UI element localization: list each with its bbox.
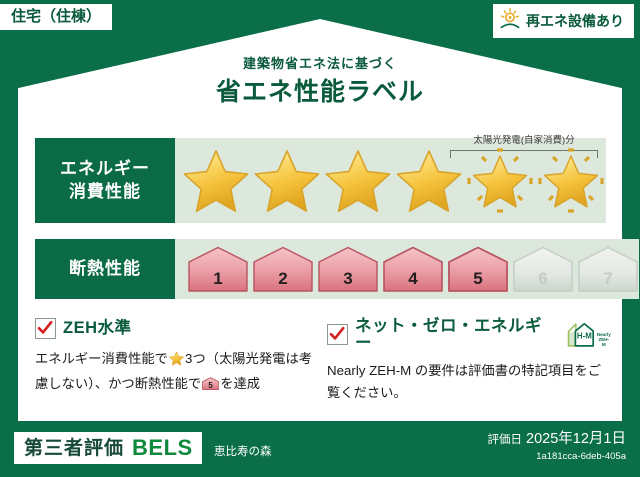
energy-performance-row: エネルギー 消費性能 太陽光発電(自家消費)分 <box>35 138 605 223</box>
star-icon <box>181 146 251 216</box>
nze-description: Nearly ZEH-M の要件は評価書の特記項目をご覧ください。 <box>327 360 611 403</box>
dwelling-type-label: 住宅（住棟） <box>11 8 101 25</box>
energy-performance-row-label: エネルギー 消費性能 <box>35 138 175 223</box>
zeh-m-caption-line2: ZEH-M <box>597 338 611 348</box>
insulation-grade-5: 5 <box>447 246 509 292</box>
star-icon <box>169 351 184 373</box>
sun-icon <box>499 8 521 34</box>
insulation-grade-3-value: 3 <box>317 270 379 287</box>
zeh-description-part2: 3つ（太陽光発電 <box>185 351 285 366</box>
zeh-description-part4: を達成 <box>220 376 260 391</box>
criteria-nze-header: ネット・ゼロ・エネルギー H-M Nearly ZEH-M <box>327 318 611 351</box>
footer-evaluation-info: 評価日 2025年12月1日 1a181cca-6deb-405a <box>488 431 626 464</box>
dwelling-type-badge: 住宅（住棟） <box>0 4 112 30</box>
insulation-performance-row: 断熱性能 1 2 3 4 <box>35 239 605 299</box>
star-solar-icon <box>465 146 535 216</box>
label-footer: 第三者評価 BELS 恵比寿の森 評価日 2025年12月1日 1a181cca… <box>0 421 640 477</box>
insulation-performance-row-body: 1 2 3 4 5 <box>175 239 639 299</box>
insulation-grade-6-value: 6 <box>512 270 574 287</box>
bels-mark: BELS <box>132 437 193 459</box>
energy-label-line2: 消費性能 <box>69 181 141 204</box>
svg-text:H-M: H-M <box>577 331 592 340</box>
zeh-description: エネルギー消費性能で3つ（太陽光発電は考慮しない）、かつ断熱性能で5を達成 <box>35 348 319 397</box>
insulation-grade-1-value: 1 <box>187 270 249 287</box>
star-solar-icon <box>536 146 606 216</box>
building-name: 恵比寿の森 <box>214 447 272 459</box>
label-header: 建築物省エネ法に基づく 省エネ性能ラベル <box>0 56 640 106</box>
star-icon <box>252 146 322 216</box>
evaluation-code: 1a181cca-6deb-405a <box>488 451 626 463</box>
zeh-m-logo-caption: Nearly ZEH-M <box>597 333 611 347</box>
criteria-zeh-header: ZEH水準 <box>35 318 319 339</box>
insulation-grade-4-value: 4 <box>382 270 444 287</box>
insulation-grade-scale: 1 2 3 4 5 <box>187 246 639 292</box>
zeh-title: ZEH水準 <box>63 320 132 337</box>
energy-performance-label: 住宅（住棟） 再エネ設備あり 建築物省エネ法に基づく 省エネ性能ラベル <box>0 0 640 477</box>
criteria-nze: ネット・ゼロ・エネルギー H-M Nearly ZEH-M Nearly ZEH… <box>327 318 611 403</box>
zeh-m-logo: H-M Nearly ZEH-M <box>566 322 611 348</box>
renewable-equipment-badge: 再エネ設備あり <box>493 4 634 38</box>
insulation-grade-1: 1 <box>187 246 249 292</box>
energy-performance-row-body: 太陽光発電(自家消費)分 <box>175 138 606 223</box>
header-title: 省エネ性能ラベル <box>0 78 640 107</box>
nze-title: ネット・ゼロ・エネルギー <box>355 318 555 351</box>
criteria-zeh: ZEH水準 エネルギー消費性能で3つ（太陽光発電は考慮しない）、かつ断熱性能で5… <box>35 318 319 403</box>
star-icon <box>394 146 464 216</box>
insulation-grade-7-value: 7 <box>577 270 639 287</box>
criteria-section: ZEH水準 エネルギー消費性能で3つ（太陽光発電は考慮しない）、かつ断熱性能で5… <box>35 318 611 403</box>
insulation-grade-6: 6 <box>512 246 574 292</box>
nze-checkbox[interactable] <box>327 324 348 345</box>
evaluation-date-value: 2025年12月1日 <box>526 431 626 447</box>
header-subtitle: 建築物省エネ法に基づく <box>0 56 640 72</box>
svg-text:5: 5 <box>208 381 213 390</box>
insulation-label: 断熱性能 <box>69 258 141 281</box>
insulation-grade-3: 3 <box>317 246 379 292</box>
house-grade-5-icon: 5 <box>202 376 219 398</box>
insulation-performance-row-label: 断熱性能 <box>35 239 175 299</box>
energy-label-line1: エネルギー <box>60 158 150 181</box>
zeh-description-part1: エネルギー消費性能で <box>35 351 168 366</box>
evaluation-date-label: 評価日 <box>488 434 523 446</box>
energy-star-rating <box>181 146 606 216</box>
insulation-grade-4: 4 <box>382 246 444 292</box>
renewable-equipment-label: 再エネ設備あり <box>526 14 624 28</box>
zeh-checkbox[interactable] <box>35 318 56 339</box>
star-icon <box>323 146 393 216</box>
insulation-grade-7: 7 <box>577 246 639 292</box>
bels-badge: 第三者評価 BELS <box>14 432 202 464</box>
evaluation-date: 評価日 2025年12月1日 <box>488 431 626 448</box>
insulation-grade-2: 2 <box>252 246 314 292</box>
bels-jp-label: 第三者評価 <box>24 439 124 458</box>
insulation-grade-5-value: 5 <box>447 270 509 287</box>
insulation-grade-2-value: 2 <box>252 270 314 287</box>
